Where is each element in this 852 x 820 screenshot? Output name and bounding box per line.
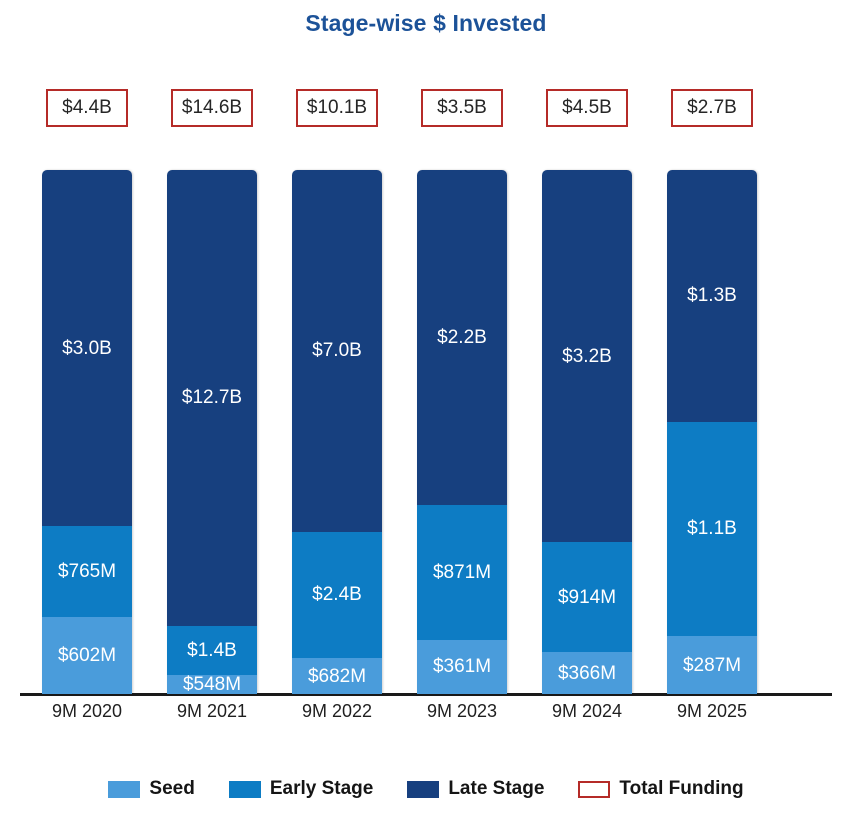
stacked-bar[interactable]: $3.0B$765M$602M: [42, 170, 132, 694]
legend-swatch-icon: [578, 781, 610, 798]
legend-swatch-icon: [108, 781, 140, 798]
segment-value-label: $3.0B: [62, 339, 112, 358]
bar-segment-seed[interactable]: $548M: [167, 675, 257, 694]
bar-segment-seed[interactable]: $682M: [292, 658, 382, 694]
segment-value-label: $2.4B: [312, 585, 362, 604]
total-funding-box: $3.5B: [421, 89, 503, 127]
bar-segment-seed[interactable]: $361M: [417, 640, 507, 694]
bar-segment-seed[interactable]: $602M: [42, 617, 132, 694]
bar-segment-early-stage[interactable]: $2.4B: [292, 532, 382, 659]
legend-label: Late Stage: [448, 778, 544, 800]
bar-group: $4.4B$3.0B$765M$602M9M 2020: [42, 0, 132, 820]
bar-segment-early-stage[interactable]: $1.4B: [167, 626, 257, 675]
bar-segment-late-stage[interactable]: $12.7B: [167, 170, 257, 626]
segment-value-label: $361M: [433, 657, 491, 676]
segment-value-label: $871M: [433, 563, 491, 582]
legend-label: Early Stage: [270, 778, 374, 800]
x-axis-label: 9M 2024: [552, 701, 622, 722]
stacked-bar[interactable]: $1.3B$1.1B$287M: [667, 170, 757, 694]
bar-segment-late-stage[interactable]: $2.2B: [417, 170, 507, 505]
x-axis-label: 9M 2020: [52, 701, 122, 722]
bar-segment-late-stage[interactable]: $3.0B: [42, 170, 132, 526]
x-axis-label: 9M 2021: [177, 701, 247, 722]
total-funding-box: $4.5B: [546, 89, 628, 127]
x-axis-label: 9M 2022: [302, 701, 372, 722]
legend-item[interactable]: Total Funding: [578, 778, 743, 800]
total-funding-box: $4.4B: [46, 89, 128, 127]
plot-area: $4.4B$3.0B$765M$602M9M 2020$14.6B$12.7B$…: [0, 0, 852, 820]
stacked-bar[interactable]: $3.2B$914M$366M: [542, 170, 632, 694]
stacked-bar[interactable]: $12.7B$1.4B$548M: [167, 170, 257, 694]
segment-value-label: $3.2B: [562, 347, 612, 366]
chart-container: Stage-wise $ Invested $4.4B$3.0B$765M$60…: [0, 0, 852, 820]
chart-legend: SeedEarly StageLate StageTotal Funding: [0, 778, 852, 800]
bar-group: $3.5B$2.2B$871M$361M9M 2023: [417, 0, 507, 820]
segment-value-label: $602M: [58, 646, 116, 665]
segment-value-label: $765M: [58, 562, 116, 581]
segment-value-label: $682M: [308, 667, 366, 686]
total-funding-label: $3.5B: [437, 97, 487, 119]
total-funding-label: $10.1B: [307, 97, 367, 119]
legend-item[interactable]: Seed: [108, 778, 194, 800]
bar-segment-early-stage[interactable]: $1.1B: [667, 422, 757, 637]
x-axis-label: 9M 2023: [427, 701, 497, 722]
segment-value-label: $1.4B: [187, 641, 237, 660]
segment-value-label: $1.1B: [687, 519, 737, 538]
bar-segment-late-stage[interactable]: $7.0B: [292, 170, 382, 532]
bar-segment-seed[interactable]: $366M: [542, 652, 632, 694]
legend-label: Seed: [149, 778, 194, 800]
bar-segment-early-stage[interactable]: $914M: [542, 542, 632, 652]
total-funding-label: $14.6B: [182, 97, 242, 119]
bar-group: $2.7B$1.3B$1.1B$287M9M 2025: [667, 0, 757, 820]
legend-swatch-icon: [407, 781, 439, 798]
bar-group: $4.5B$3.2B$914M$366M9M 2024: [542, 0, 632, 820]
segment-value-label: $287M: [683, 656, 741, 675]
total-funding-label: $4.5B: [562, 97, 612, 119]
legend-swatch-icon: [229, 781, 261, 798]
legend-label: Total Funding: [619, 778, 743, 800]
segment-value-label: $366M: [558, 664, 616, 683]
segment-value-label: $2.2B: [437, 328, 487, 347]
legend-item[interactable]: Late Stage: [407, 778, 544, 800]
segment-value-label: $1.3B: [687, 286, 737, 305]
total-funding-box: $14.6B: [171, 89, 253, 127]
total-funding-label: $4.4B: [62, 97, 112, 119]
bar-group: $14.6B$12.7B$1.4B$548M9M 2021: [167, 0, 257, 820]
total-funding-label: $2.7B: [687, 97, 737, 119]
bar-segment-late-stage[interactable]: $3.2B: [542, 170, 632, 542]
legend-item[interactable]: Early Stage: [229, 778, 374, 800]
total-funding-box: $10.1B: [296, 89, 378, 127]
stacked-bar[interactable]: $7.0B$2.4B$682M: [292, 170, 382, 694]
bar-segment-early-stage[interactable]: $871M: [417, 505, 507, 639]
x-axis-label: 9M 2025: [677, 701, 747, 722]
segment-value-label: $914M: [558, 588, 616, 607]
bar-segment-late-stage[interactable]: $1.3B: [667, 170, 757, 422]
segment-value-label: $12.7B: [182, 388, 242, 407]
segment-value-label: $7.0B: [312, 341, 362, 360]
bar-segment-early-stage[interactable]: $765M: [42, 526, 132, 617]
bar-segment-seed[interactable]: $287M: [667, 636, 757, 694]
total-funding-box: $2.7B: [671, 89, 753, 127]
stacked-bar[interactable]: $2.2B$871M$361M: [417, 170, 507, 694]
bar-group: $10.1B$7.0B$2.4B$682M9M 2022: [292, 0, 382, 820]
segment-value-label: $548M: [183, 675, 241, 694]
